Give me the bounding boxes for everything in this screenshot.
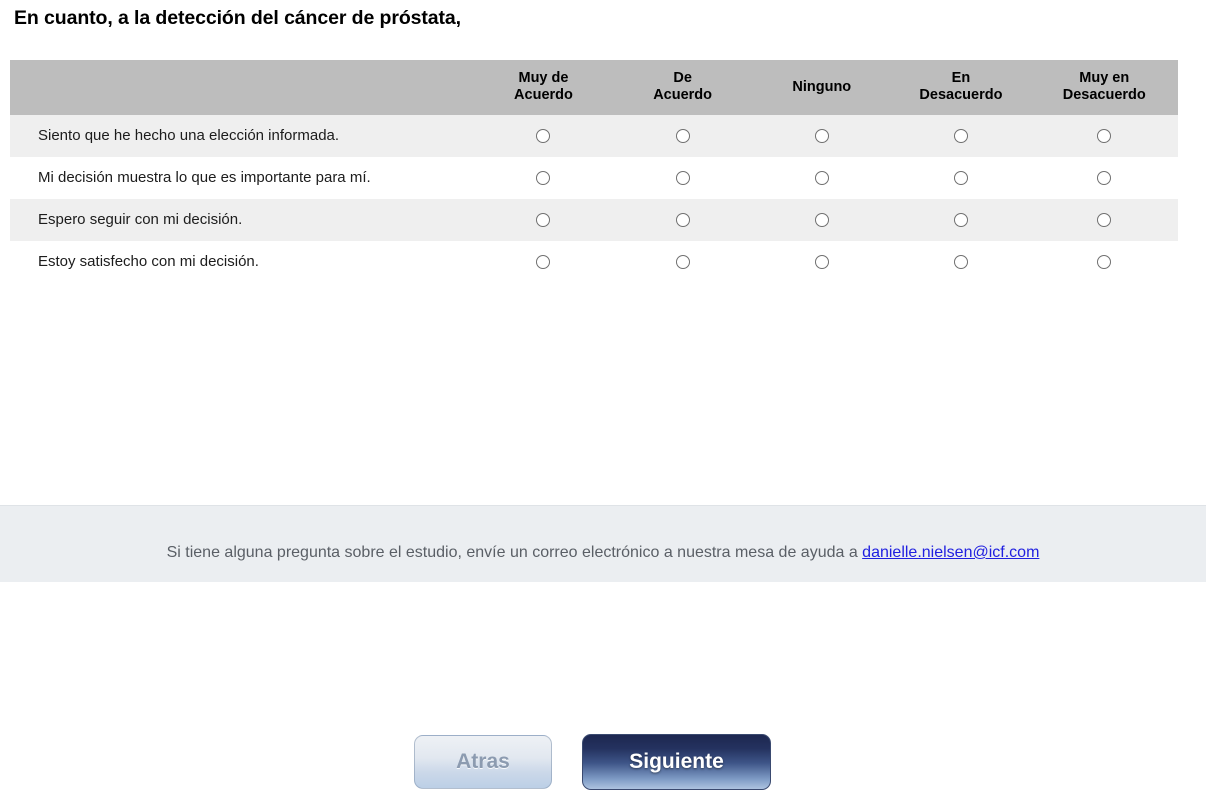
radio-cell-de-acuerdo[interactable] [613, 115, 752, 157]
radio-button[interactable] [815, 129, 829, 143]
radio-cell-ninguno[interactable] [752, 199, 891, 241]
row-label: Estoy satisfecho con mi decisión. [10, 241, 474, 283]
header-row: Muy de Acuerdo De Acuerdo Ninguno En Des… [10, 60, 1178, 115]
table-header: Muy de Acuerdo De Acuerdo Ninguno En Des… [10, 60, 1178, 115]
table-body: Siento que he hecho una elección informa… [10, 115, 1178, 283]
header-line-2: Acuerdo [653, 87, 712, 103]
radio-cell-de-acuerdo[interactable] [613, 157, 752, 199]
radio-button[interactable] [676, 255, 690, 269]
radio-button[interactable] [954, 171, 968, 185]
radio-cell-en-desacuerdo[interactable] [891, 241, 1030, 283]
radio-cell-ninguno[interactable] [752, 241, 891, 283]
radio-cell-en-desacuerdo[interactable] [891, 115, 1030, 157]
header-line-2: Desacuerdo [919, 87, 1002, 103]
column-header-label [10, 60, 474, 115]
radio-button[interactable] [815, 255, 829, 269]
radio-cell-muy-en-desacuerdo[interactable] [1031, 199, 1178, 241]
header-line-1: Muy de [518, 70, 568, 86]
radio-button[interactable] [1097, 171, 1111, 185]
footer-text-prefix: Si tiene alguna pregunta sobre el estudi… [167, 544, 863, 561]
radio-button[interactable] [1097, 255, 1111, 269]
row-label: Mi decisión muestra lo que es importante… [10, 157, 474, 199]
radio-button[interactable] [536, 255, 550, 269]
radio-cell-ninguno[interactable] [752, 115, 891, 157]
radio-cell-muy-de-acuerdo[interactable] [474, 199, 613, 241]
radio-button[interactable] [676, 213, 690, 227]
header-line-1: Ninguno [792, 79, 851, 95]
radio-button[interactable] [1097, 129, 1111, 143]
back-button[interactable]: Atras [414, 735, 552, 789]
radio-cell-muy-de-acuerdo[interactable] [474, 241, 613, 283]
radio-cell-de-acuerdo[interactable] [613, 241, 752, 283]
radio-cell-de-acuerdo[interactable] [613, 199, 752, 241]
radio-cell-muy-en-desacuerdo[interactable] [1031, 157, 1178, 199]
radio-button[interactable] [676, 171, 690, 185]
radio-cell-ninguno[interactable] [752, 157, 891, 199]
column-header-de-acuerdo: De Acuerdo [613, 60, 752, 115]
table-row: Mi decisión muestra lo que es importante… [10, 157, 1178, 199]
radio-button[interactable] [954, 129, 968, 143]
radio-cell-muy-de-acuerdo[interactable] [474, 115, 613, 157]
radio-button[interactable] [536, 213, 550, 227]
next-button[interactable]: Siguiente [582, 734, 771, 790]
radio-button[interactable] [954, 213, 968, 227]
radio-button[interactable] [676, 129, 690, 143]
navigation-button-row: Atras Siguiente [0, 366, 1206, 428]
page-title: En cuanto, a la detección del cáncer de … [14, 7, 461, 30]
header-line-1: De [673, 70, 692, 86]
likert-survey-table: Muy de Acuerdo De Acuerdo Ninguno En Des… [10, 60, 1178, 283]
radio-cell-en-desacuerdo[interactable] [891, 157, 1030, 199]
radio-button[interactable] [536, 129, 550, 143]
radio-cell-muy-en-desacuerdo[interactable] [1031, 115, 1178, 157]
column-header-muy-de-acuerdo: Muy de Acuerdo [474, 60, 613, 115]
footer-help-text: Si tiene alguna pregunta sobre el estudi… [0, 544, 1206, 562]
radio-button[interactable] [954, 255, 968, 269]
radio-cell-en-desacuerdo[interactable] [891, 199, 1030, 241]
table-row: Estoy satisfecho con mi decisión. [10, 241, 1178, 283]
header-line-1: En [952, 70, 971, 86]
column-header-ninguno: Ninguno [752, 60, 891, 115]
radio-cell-muy-en-desacuerdo[interactable] [1031, 241, 1178, 283]
table-row: Siento que he hecho una elección informa… [10, 115, 1178, 157]
footer-panel: Si tiene alguna pregunta sobre el estudi… [0, 505, 1206, 582]
radio-cell-muy-de-acuerdo[interactable] [474, 157, 613, 199]
header-line-1: Muy en [1079, 70, 1129, 86]
header-line-2: Acuerdo [514, 87, 573, 103]
radio-button[interactable] [536, 171, 550, 185]
column-header-en-desacuerdo: En Desacuerdo [891, 60, 1030, 115]
radio-button[interactable] [1097, 213, 1111, 227]
row-label: Espero seguir con mi decisión. [10, 199, 474, 241]
header-line-2: Desacuerdo [1063, 87, 1146, 103]
radio-button[interactable] [815, 213, 829, 227]
column-header-muy-en-desacuerdo: Muy en Desacuerdo [1031, 60, 1178, 115]
radio-button[interactable] [815, 171, 829, 185]
table-row: Espero seguir con mi decisión. [10, 199, 1178, 241]
row-label: Siento que he hecho una elección informa… [10, 115, 474, 157]
help-desk-email-link[interactable]: danielle.nielsen@icf.com [862, 544, 1039, 561]
